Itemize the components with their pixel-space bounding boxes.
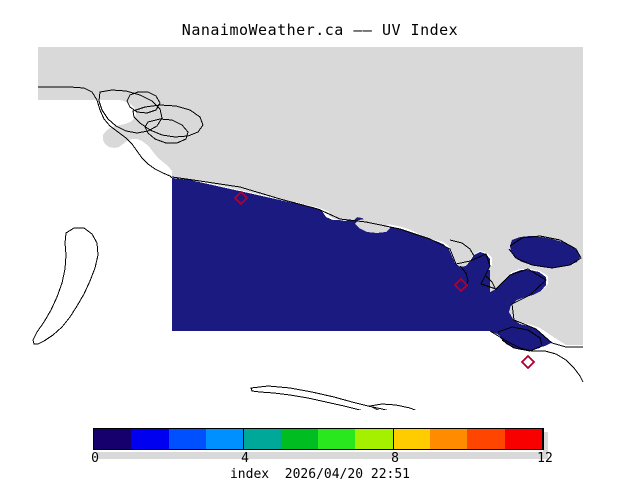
colorbar-ticklabel-8: 8: [375, 451, 415, 466]
colorbar-segment-3: [206, 429, 243, 449]
colorbar-segment-6: [318, 429, 355, 449]
colorbar-tick-12: [543, 428, 544, 450]
colorbar-tick-8: [393, 428, 394, 450]
uv-field-lower-block: [172, 270, 490, 331]
colorbar-caption: index 2026/04/20 22:51: [0, 467, 640, 480]
colorbar: 0 4 8 12 index 2026/04/20 22:51: [0, 415, 640, 480]
page-title: NanaimoWeather.ca —— UV Index: [0, 21, 640, 39]
map-panel[interactable]: [0, 40, 640, 410]
colorbar-segment-5: [281, 429, 318, 449]
uv-index-map-page: NanaimoWeather.ca —— UV Index: [0, 0, 640, 480]
map-canvas[interactable]: [0, 40, 640, 410]
colorbar-segment-7: [355, 429, 392, 449]
colorbar-ticklabel-0: 0: [75, 451, 115, 466]
colorbar-ticklabel-12: 12: [525, 451, 565, 466]
colorbar-segment-10: [467, 429, 504, 449]
colorbar-tick-4: [243, 428, 244, 450]
colorbar-segment-0: [94, 429, 131, 449]
colorbar-segment-1: [131, 429, 168, 449]
colorbar-segment-2: [169, 429, 206, 449]
colorbar-ticklabel-4: 4: [225, 451, 265, 466]
colorbar-segment-4: [243, 429, 280, 449]
colorbar-strip[interactable]: [93, 428, 543, 450]
colorbar-segment-9: [430, 429, 467, 449]
colorbar-shadow: [97, 452, 547, 459]
colorbar-segment-11: [505, 429, 542, 449]
colorbar-segment-8: [393, 429, 430, 449]
colorbar-tick-0: [93, 428, 94, 450]
